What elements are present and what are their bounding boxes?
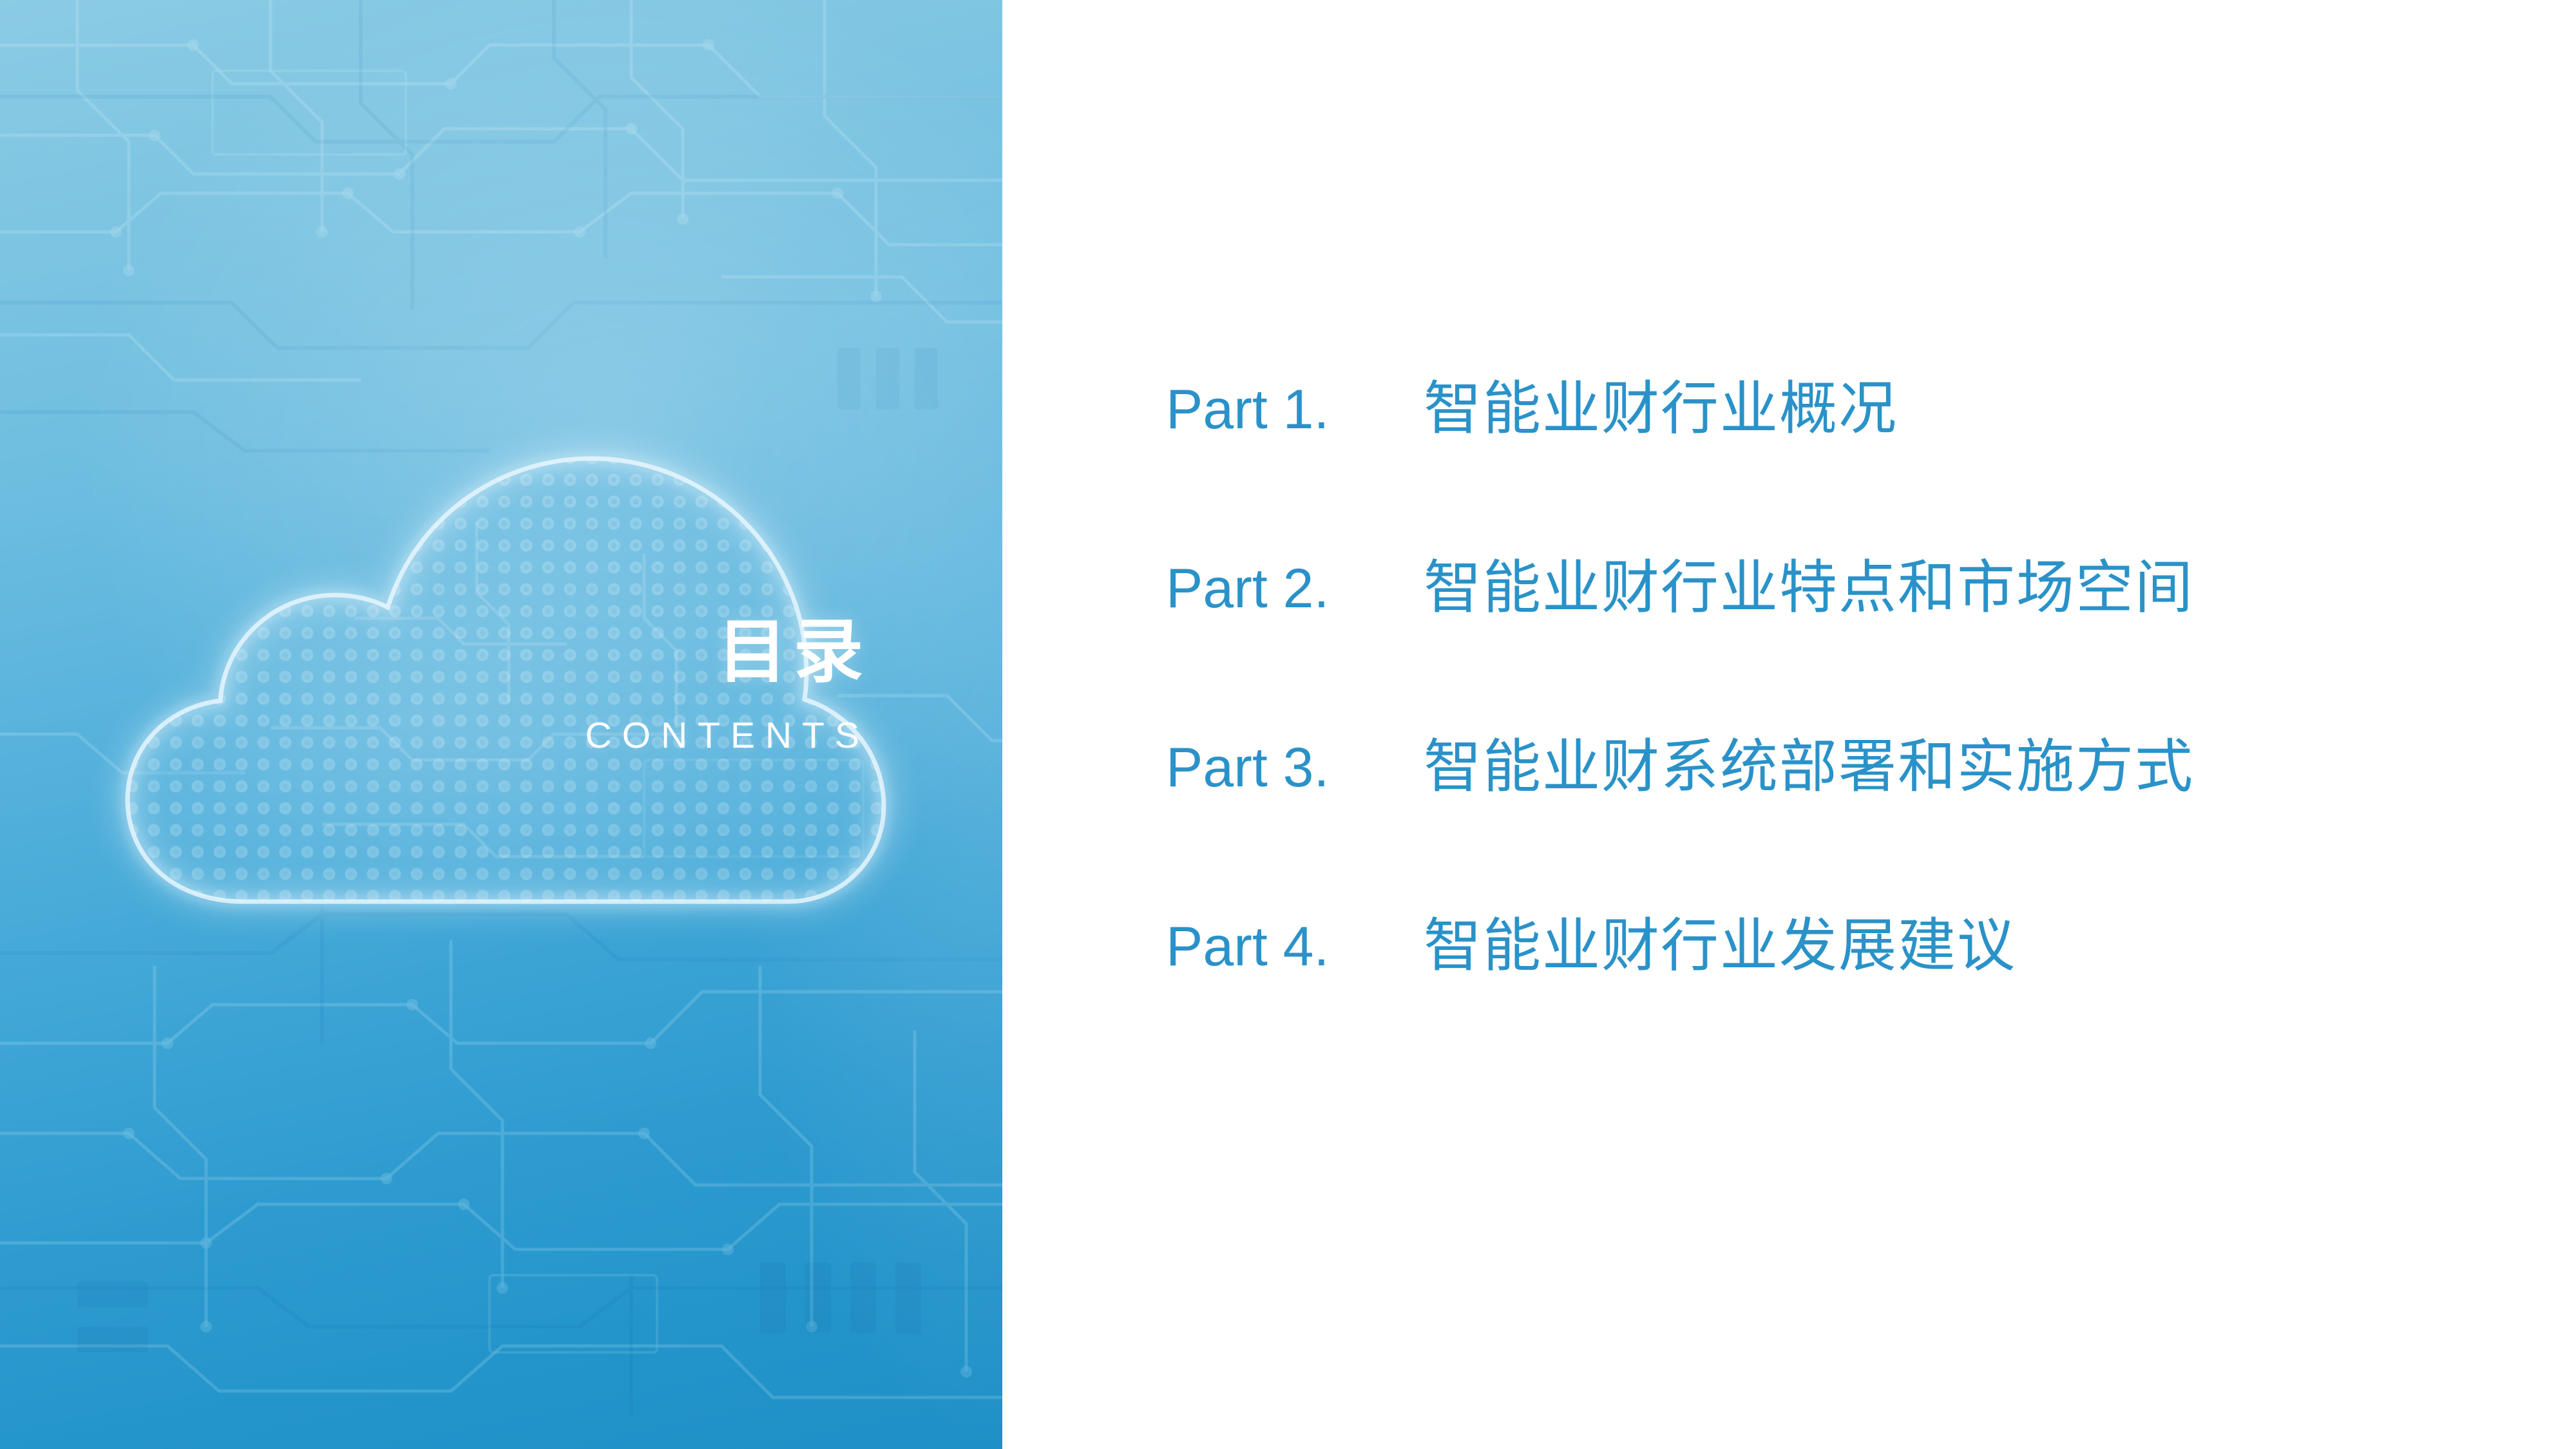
slide-canvas: 目录 CONTENTS Part 1. 智能业财行业概况 Part 2. 智能业… (0, 0, 2576, 1449)
toc-item-2-title: 智能业财行业特点和市场空间 (1424, 559, 2486, 617)
toc-item-3[interactable]: Part 3. 智能业财系统部署和实施方式 (1166, 738, 2486, 917)
left-decorative-panel: 目录 CONTENTS (0, 0, 1002, 1449)
toc-item-1[interactable]: Part 1. 智能业财行业概况 (1166, 380, 2486, 559)
toc-item-3-part-label: Part 3. (1166, 740, 1424, 795)
toc-item-4-part-label: Part 4. (1166, 919, 1424, 974)
table-of-contents-list: Part 1. 智能业财行业概况 Part 2. 智能业财行业特点和市场空间 P… (1166, 380, 2486, 1096)
toc-item-2-part-label: Part 2. (1166, 561, 1424, 616)
toc-item-3-title: 智能业财系统部署和实施方式 (1424, 738, 2486, 796)
toc-item-4-title: 智能业财行业发展建议 (1424, 917, 2486, 975)
toc-item-2[interactable]: Part 2. 智能业财行业特点和市场空间 (1166, 559, 2486, 738)
toc-item-1-title: 智能业财行业概况 (1424, 380, 2486, 438)
page-title-cn: 目录 (560, 615, 870, 688)
toc-item-4[interactable]: Part 4. 智能业财行业发展建议 (1166, 917, 2486, 1096)
toc-title-block: 目录 CONTENTS (560, 615, 870, 754)
toc-item-1-part-label: Part 1. (1166, 382, 1424, 437)
page-title-en: CONTENTS (560, 717, 870, 754)
